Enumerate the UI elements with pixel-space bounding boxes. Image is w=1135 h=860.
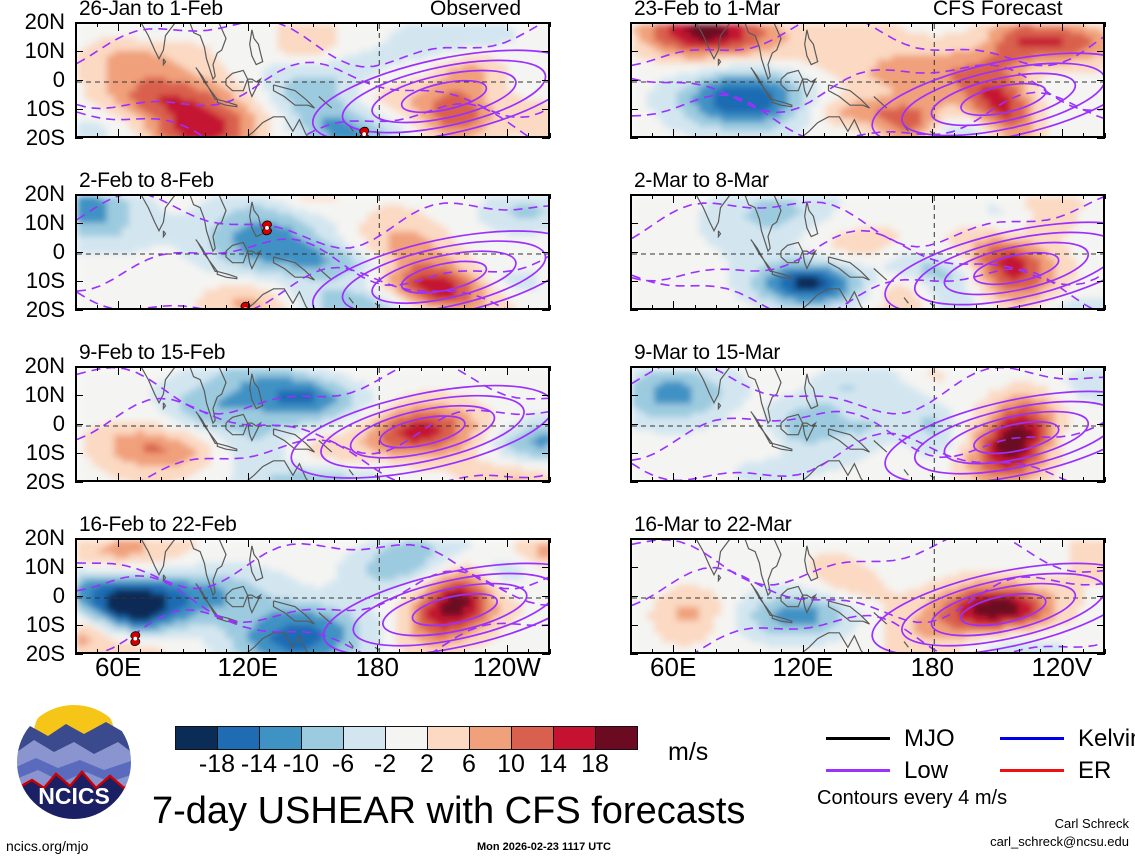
y-tick-label: 10N [0,382,65,408]
legend-label-0: MJO [904,725,955,753]
colorbar-swatch-10 [595,726,638,750]
x-tick-label: 120W [467,652,547,683]
y-tick-label: 0 [0,239,65,265]
panel-title-2-0: 9-Feb to 15-Feb [79,341,225,365]
y-tick-label: 0 [0,67,65,93]
author-name: Carl Schreck [885,816,1129,831]
shading-cells [77,196,550,310]
y-tick-label: 20N [0,181,65,207]
shading-cells [632,24,1105,138]
y-tick-label: 20N [0,525,65,551]
panel-title-3-0: 16-Feb to 22-Feb [79,513,236,537]
y-tick-label: 20S [0,125,65,151]
shaded-field [632,368,1105,482]
y-tick-label: 20N [0,9,65,35]
x-tick-label: 180 [892,652,972,683]
colorbar-swatch-6 [427,726,470,750]
panel-title-0-0: 26-Jan to 1-Feb [79,0,223,21]
column-label-1: CFS Forecast [933,0,1063,21]
x-tick-label: 180 [337,652,417,683]
colorbar-swatch-2 [259,726,302,750]
x-tick-label: 120E [208,652,288,683]
colorbar-swatch-4 [343,726,386,750]
y-tick-label: 10N [0,38,65,64]
author-email[interactable]: carl_schreck@ncsu.edu [885,834,1129,849]
colorbar-swatch-7 [469,726,512,750]
tropical-cyclone-symbols [131,632,140,646]
x-tick-label: 60E [633,652,713,683]
shaded-field [77,540,550,654]
shaded-field [632,196,1105,310]
map-panel[interactable] [75,366,550,482]
colorbar-swatch-8 [511,726,554,750]
tropical-cyclone-symbols [360,127,369,138]
y-tick-label: 0 [0,411,65,437]
panel-title-0-1: 23-Feb to 1-Mar [634,0,780,21]
shaded-field [77,368,550,482]
map-panel[interactable] [630,22,1105,138]
x-tick-label: 120E [763,652,843,683]
figure-title: 7-day USHEAR with CFS forecasts [152,790,745,833]
map-panel[interactable] [630,366,1105,482]
timestamp: Mon 2026-02-23 1117 UTC [477,841,611,853]
panel-title-2-1: 9-Mar to 15-Mar [634,341,780,365]
y-tick-label: 20S [0,297,65,323]
colorbar-swatch-0 [175,726,218,750]
y-tick-label: 20S [0,469,65,495]
legend-label-1: Kelvin x2 [1078,725,1135,753]
legend-swatch-mjo [826,737,890,740]
logo-text: NCICS [38,783,110,809]
y-tick-label: 10S [0,96,65,122]
shaded-field [77,24,550,138]
y-tick-label: 0 [0,583,65,609]
map-panel[interactable] [75,22,550,138]
x-tick-label: 60E [78,652,158,683]
colorbar [175,726,637,750]
ncics-logo[interactable]: NCICS [14,702,134,822]
y-tick-label: 10N [0,210,65,236]
panel-title-1-0: 2-Feb to 8-Feb [79,169,214,193]
y-tick-label: 20N [0,353,65,379]
colorbar-unit: m/s [668,738,708,767]
shading-cells [77,540,550,654]
colorbar-swatch-1 [217,726,260,750]
panel-title-3-1: 16-Mar to 22-Mar [634,513,791,537]
y-tick-label: 20S [0,641,65,667]
map-panel[interactable] [630,538,1105,654]
panel-title-1-1: 2-Mar to 8-Mar [634,169,769,193]
colorbar-swatch-5 [385,726,428,750]
y-tick-label: 10S [0,268,65,294]
map-panel[interactable] [75,538,550,654]
colorbar-swatch-9 [553,726,596,750]
legend-swatch-kelvin-x2 [1000,737,1064,740]
legend-swatch-er [1000,769,1064,772]
y-tick-label: 10S [0,612,65,638]
map-panel[interactable] [75,194,550,310]
site-link[interactable]: ncics.org/mjo [6,838,88,854]
y-tick-label: 10S [0,440,65,466]
shaded-field [632,540,1105,654]
colorbar-tick-label: 18 [565,750,625,779]
legend-label-2: Low [904,757,948,785]
y-tick-label: 10N [0,554,65,580]
legend-swatch-low [826,769,890,772]
map-panel[interactable] [630,194,1105,310]
contour-interval-note: Contours every 4 m/s [817,787,1007,810]
shaded-field [77,196,550,310]
colorbar-swatch-3 [301,726,344,750]
column-label-0: Observed [430,0,521,21]
legend-label-3: ER [1078,757,1111,785]
shaded-field [632,24,1105,138]
x-tick-label: 120V [1022,652,1102,683]
shading-cells [632,540,1105,654]
